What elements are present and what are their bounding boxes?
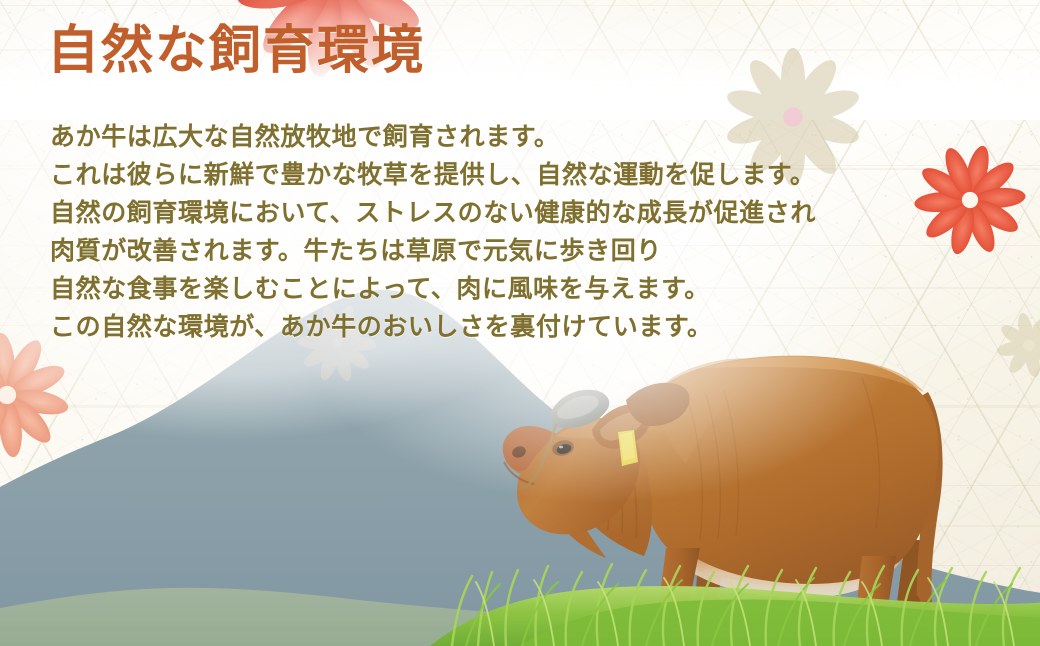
page-title: 自然な飼育環境 — [47, 26, 425, 78]
copy-block: 自然な飼育環境 あか牛は広大な自然放牧地で飼育されます。 これは彼らに新鮮で豊か… — [0, 0, 1040, 646]
body-paragraph: あか牛は広大な自然放牧地で飼育されます。 これは彼らに新鮮で豊かな牧草を提供し、… — [50, 119, 816, 347]
body-line: 肉質が改善されます。牛たちは草原で元気に歩き回り — [50, 233, 816, 271]
body-line: 自然の飼育環境において、ストレスのない健康的な成長が促進され — [50, 195, 816, 233]
body-line: あか牛は広大な自然放牧地で飼育されます。 — [50, 119, 816, 157]
body-line: これは彼らに新鮮で豊かな牧草を提供し、自然な運動を促します。 — [50, 157, 816, 195]
body-line: 自然な食事を楽しむことによって、肉に風味を与えます。 — [50, 271, 816, 309]
body-line: この自然な環境が、あか牛のおいしさを裏付けています。 — [50, 309, 816, 347]
promo-banner: 自然な飼育環境 あか牛は広大な自然放牧地で飼育されます。 これは彼らに新鮮で豊か… — [0, 0, 1040, 646]
